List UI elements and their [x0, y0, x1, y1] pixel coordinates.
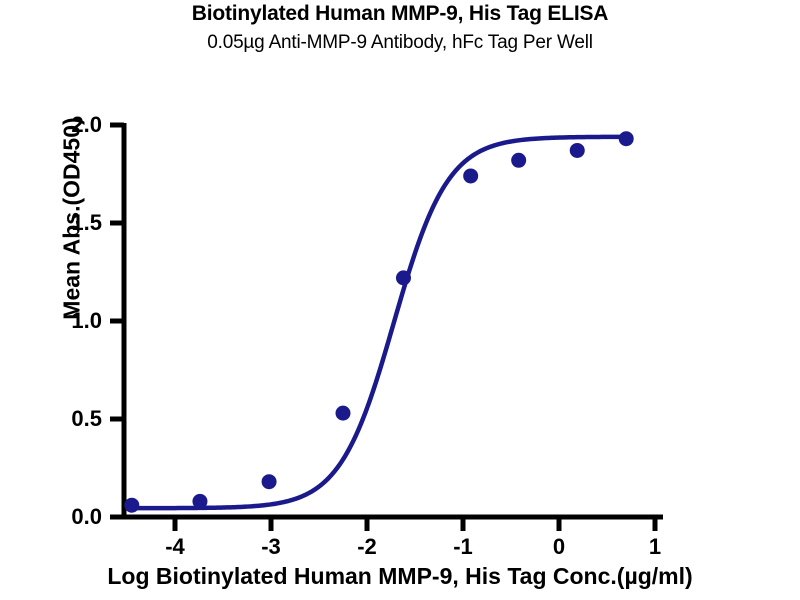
x-tick-label: -1 [453, 534, 473, 560]
x-axis-title: Log Biotinylated Human MMP-9, His Tag Co… [0, 563, 800, 590]
data-point [570, 143, 585, 158]
y-tick-label: 1.0 [30, 308, 102, 334]
axes-group [110, 123, 663, 531]
plot-svg [0, 0, 800, 600]
y-tick-label: 0.5 [30, 406, 102, 432]
y-tick-label: 0.0 [30, 504, 102, 530]
y-tick-label: 1.5 [30, 210, 102, 236]
x-tick-label: 0 [553, 534, 565, 560]
x-tick-label: -3 [261, 534, 281, 560]
data-point [396, 270, 411, 285]
data-point [463, 168, 478, 183]
data-point [192, 494, 207, 509]
data-point [619, 131, 634, 146]
data-point [336, 406, 351, 421]
data-point [124, 498, 139, 513]
data-point [262, 474, 277, 489]
x-tick-label: 1 [649, 534, 661, 560]
y-tick-label: 2.0 [30, 112, 102, 138]
data-point [511, 153, 526, 168]
plot-area: Mean Abs.(OD450) Log Biotinylated Human … [0, 0, 800, 600]
x-tick-label: -2 [357, 534, 377, 560]
elisa-chart: Biotinylated Human MMP-9, His Tag ELISA … [0, 0, 800, 600]
x-tick-label: -4 [165, 534, 185, 560]
data-point-markers [124, 131, 633, 513]
fit-curve [132, 137, 626, 508]
